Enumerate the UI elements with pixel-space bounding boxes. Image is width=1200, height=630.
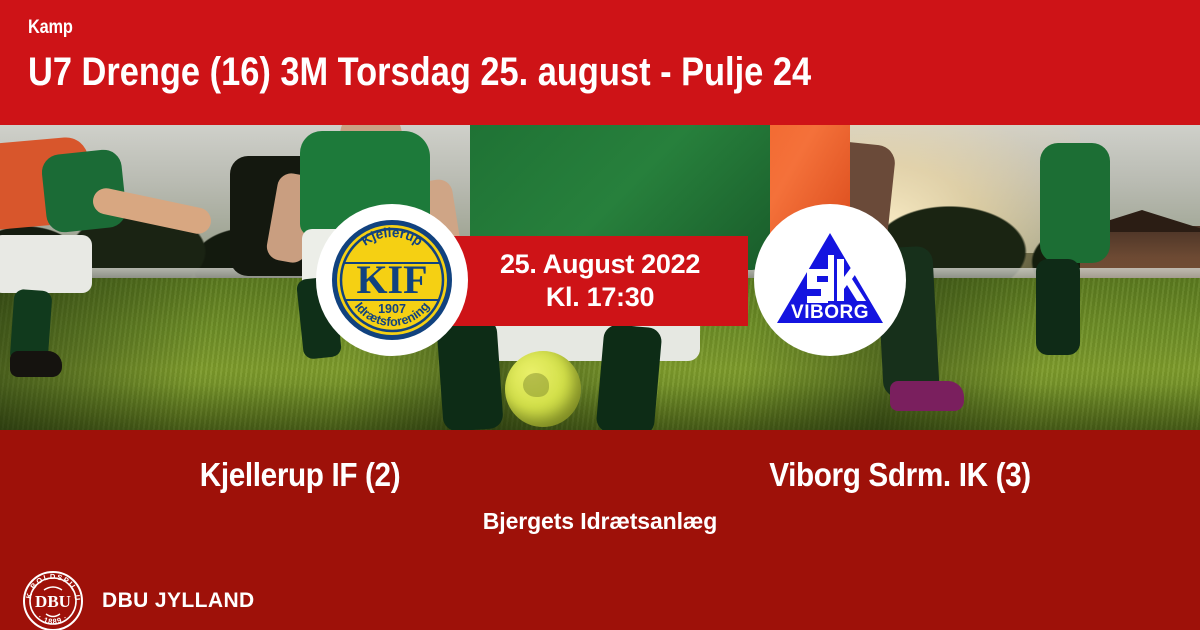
svg-text:· 1889 ·: · 1889 · — [36, 613, 70, 627]
svg-text:KIF: KIF — [356, 257, 427, 302]
venue-name: Bjergets Idrætsanlæg — [0, 508, 1200, 535]
player-leg — [1036, 259, 1080, 355]
player-background — [1040, 143, 1110, 263]
sik-viborg-crest-icon: VIBORG — [767, 217, 893, 343]
away-team-logo[interactable]: VIBORG — [754, 204, 906, 356]
svg-text:DBU: DBU — [35, 592, 71, 611]
footer-brand: DANSK BOLDSPIL UNION DBU · 1889 · DBU JY… — [22, 570, 255, 630]
teams-row: Kjellerup IF (2) Viborg Sdrm. IK (3) — [0, 456, 1200, 494]
poster-header: Kamp U7 Drenge (16) 3M Torsdag 25. augus… — [0, 0, 1200, 125]
match-poster: Kamp U7 Drenge (16) 3M Torsdag 25. augus… — [0, 0, 1200, 630]
football-icon — [505, 351, 581, 427]
svg-text:VIBORG: VIBORG — [791, 302, 869, 323]
kjellerup-if-crest-icon: Kjellerup KIF 1907 Idrætsforening — [329, 217, 455, 343]
home-team-logo[interactable]: Kjellerup KIF 1907 Idrætsforening — [316, 204, 468, 356]
home-team-name: Kjellerup IF (2) — [30, 456, 570, 494]
poster-footer-section: Kjellerup IF (2) Viborg Sdrm. IK (3) Bje… — [0, 430, 1200, 630]
footer-label: DBU JYLLAND — [102, 589, 255, 613]
match-date: 25. August 2022 — [452, 236, 748, 281]
match-time: Kl. 17:30 — [452, 281, 748, 314]
match-datetime-banner: 25. August 2022 Kl. 17:30 — [452, 236, 748, 326]
dbu-seal-icon: DANSK BOLDSPIL UNION DBU · 1889 · — [22, 570, 84, 630]
player-shorts — [0, 235, 92, 293]
away-team-name: Viborg Sdrm. IK (3) — [630, 456, 1170, 494]
page-title: U7 Drenge (16) 3M Torsdag 25. august - P… — [28, 51, 1036, 93]
player-boot — [10, 351, 62, 377]
header-kicker: Kamp — [28, 18, 1036, 37]
player-boot — [890, 381, 964, 411]
player-sock — [595, 324, 662, 430]
